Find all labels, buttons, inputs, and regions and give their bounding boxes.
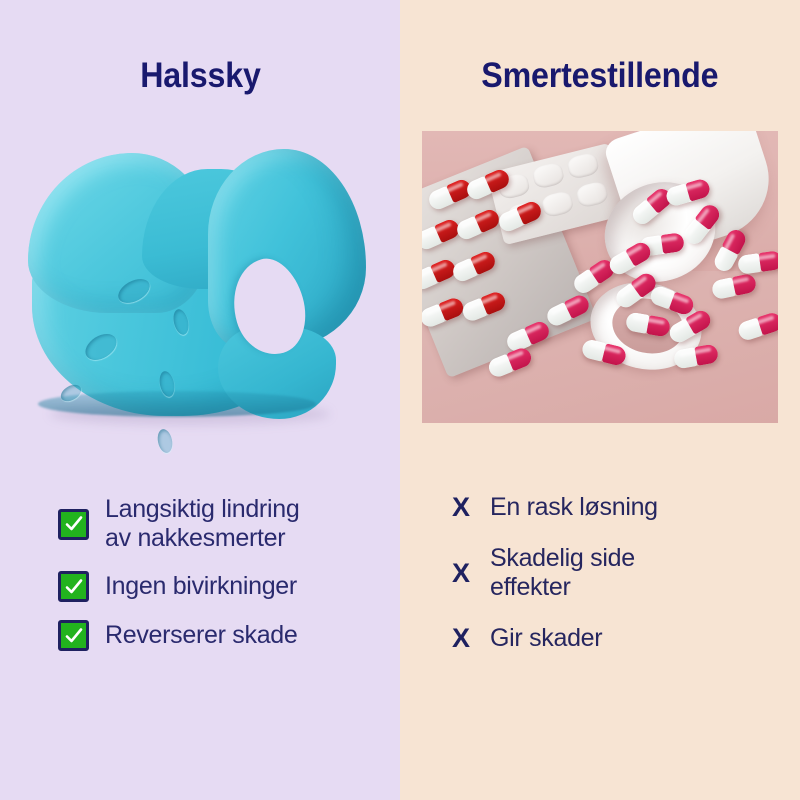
list-item: X Skadelig side effekter [448,544,786,602]
check-icon [58,509,89,540]
list-item-label: En rask løsning [490,493,658,522]
pills-photo [422,131,778,423]
x-icon: X [448,494,474,521]
x-icon: X [448,560,474,587]
check-icon [58,571,89,602]
comparison-infographic: Halssky [0,0,800,800]
device-bottom-rim [38,391,316,417]
right-media-area [400,103,800,443]
list-item: Reverserer skade [58,620,386,651]
panel-painkillers: Smertestillende [400,0,800,800]
list-item-label: Skadelig side effekter [490,544,635,602]
right-feature-list: X En rask løsning X Skadelig side effekt… [400,493,800,653]
list-item: Ingen bivirkninger [58,571,386,602]
list-item-label: Reverserer skade [105,621,298,650]
list-item-label: Gir skader [490,624,602,653]
left-feature-list: Langsiktig lindring av nakkesmerter Inge… [0,495,400,651]
list-item: Langsiktig lindring av nakkesmerter [58,495,386,553]
panel-product: Halssky [0,0,400,800]
capsule [736,311,778,343]
right-panel-title: Smertestillende [481,58,718,93]
list-item: X Gir skader [448,624,786,653]
capsule [711,273,758,301]
list-item-label: Ingen bivirkninger [105,572,297,601]
x-icon: X [448,625,474,652]
neck-stretcher-device [22,131,372,431]
left-panel-title: Halssky [140,58,260,93]
check-icon [58,620,89,651]
left-media-area [0,103,400,443]
device-dimple [156,428,175,454]
list-item-label: Langsiktig lindring av nakkesmerter [105,495,299,553]
list-item: X En rask løsning [448,493,786,522]
